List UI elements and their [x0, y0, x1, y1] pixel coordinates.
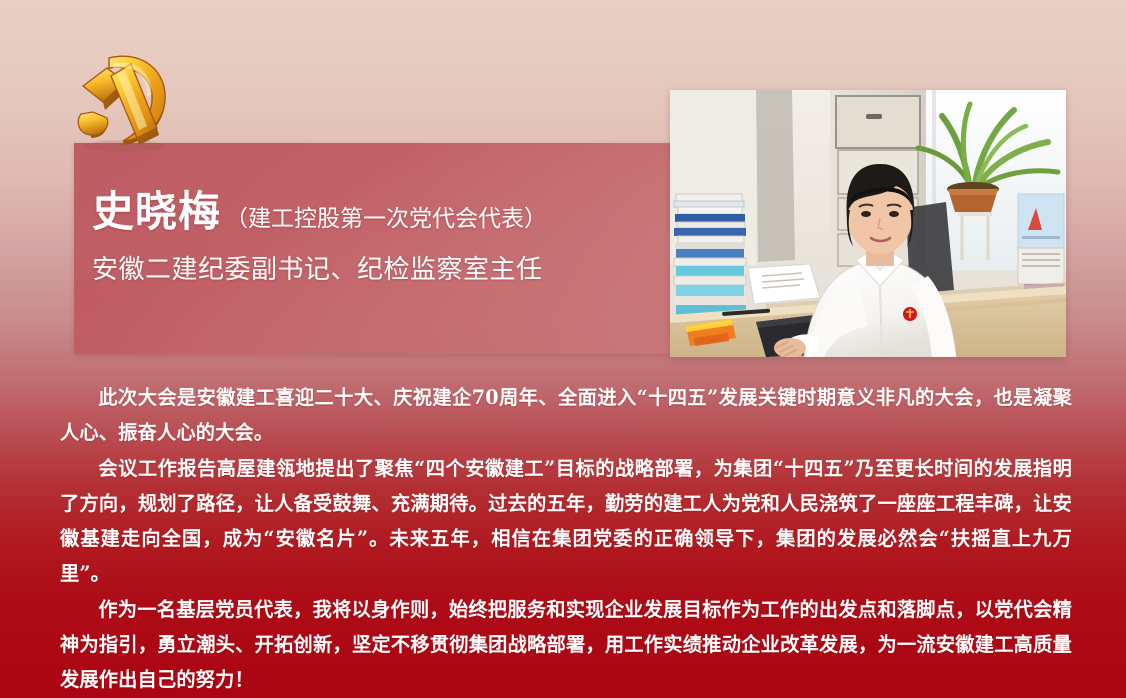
- page-title: 史晓梅: [92, 187, 221, 236]
- poster-canvas: 史晓梅（建工控股第一次党代会代表） 安徽二建纪委副书记、纪检监察室主任: [0, 0, 1126, 698]
- delegate-position-title: 安徽二建纪委副书记、纪检监察室主任: [92, 249, 660, 286]
- paragraph-3: 作为一名基层党员代表，我将以身作则，始终把服务和实现企业发展目标作为工作的出发点…: [60, 592, 1072, 697]
- cpc-hammer-sickle-icon: [63, 42, 181, 154]
- article-body: 此次大会是安徽建工喜迎二十大、庆祝建企70周年、全面进入“十四五”发展关键时期意…: [60, 380, 1072, 698]
- delegate-name-line: 史晓梅（建工控股第一次党代会代表）: [92, 191, 660, 233]
- paragraph-1: 此次大会是安徽建工喜迎二十大、庆祝建企70周年、全面进入“十四五”发展关键时期意…: [60, 380, 1072, 450]
- delegate-title-inner: 史晓梅（建工控股第一次党代会代表） 安徽二建纪委副书记、纪检监察室主任: [92, 191, 660, 286]
- delegate-photo: [670, 90, 1066, 357]
- delegate-photo-scene: [670, 90, 1066, 357]
- delegate-role-parenthetical: （建工控股第一次党代会代表）: [225, 206, 547, 232]
- paragraph-2: 会议工作报告高屋建瓴地提出了聚焦“四个安徽建工”目标的战略部署，为集团“十四五”…: [60, 451, 1072, 591]
- delegate-title-panel: 史晓梅（建工控股第一次党代会代表） 安徽二建纪委副书记、纪检监察室主任: [74, 143, 670, 354]
